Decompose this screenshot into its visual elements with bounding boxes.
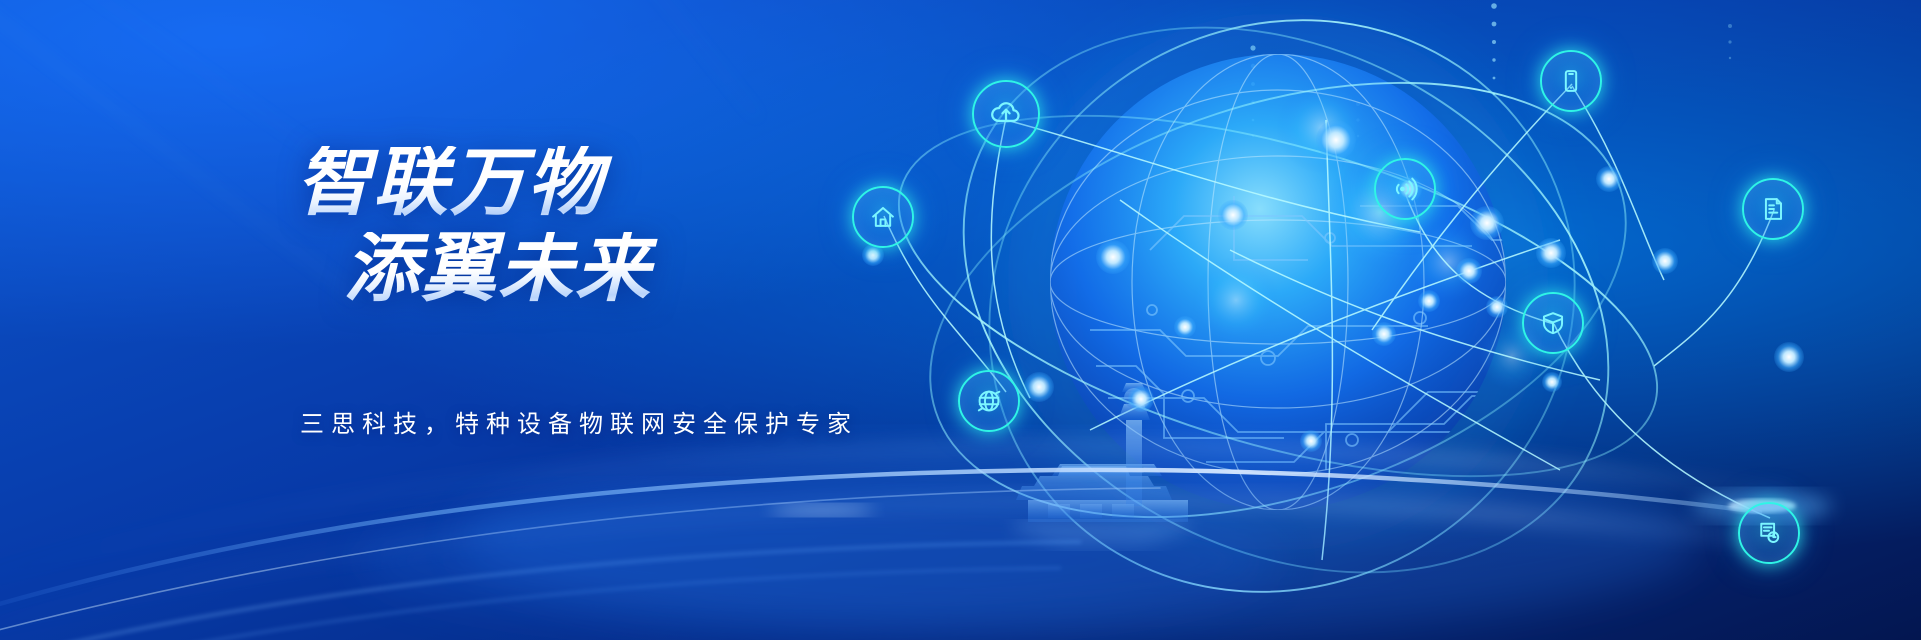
spark-node bbox=[1096, 240, 1130, 274]
spark-node bbox=[1470, 206, 1504, 240]
background-graphics bbox=[0, 0, 1921, 640]
spark-node bbox=[1542, 372, 1562, 392]
headline-block: 智联万物 添翼未来 bbox=[296, 146, 916, 305]
smartphone-icon[interactable] bbox=[1540, 50, 1602, 112]
spark-node bbox=[1316, 120, 1356, 160]
globe-network-icon[interactable] bbox=[958, 370, 1020, 432]
document-list-icon[interactable] bbox=[1742, 178, 1804, 240]
spark-node bbox=[1652, 248, 1678, 274]
report-refresh-icon[interactable] bbox=[1738, 502, 1800, 564]
headline-line-2: 添翼未来 bbox=[296, 232, 916, 306]
spark-node bbox=[1300, 430, 1322, 452]
spark-node bbox=[1536, 238, 1566, 268]
wifi-signal-icon[interactable] bbox=[1374, 158, 1436, 220]
water-reflection bbox=[1016, 522, 1188, 548]
circuit-traces bbox=[1090, 196, 1576, 470]
wifi-signal-glyph bbox=[1389, 173, 1421, 205]
globe-hotspots bbox=[1192, 82, 1546, 390]
globe-network-glyph bbox=[973, 385, 1005, 417]
city-skyline-silhouette bbox=[1016, 383, 1188, 522]
spark-node bbox=[1372, 322, 1396, 346]
globe-meridians bbox=[1050, 54, 1506, 510]
network-links bbox=[884, 84, 1774, 560]
smartphone-glyph bbox=[1555, 65, 1587, 97]
dotted-rain bbox=[1250, 3, 1732, 137]
shield-glyph bbox=[1537, 307, 1569, 339]
spark-node bbox=[1596, 166, 1622, 192]
spark-node bbox=[1418, 290, 1440, 312]
banner-subtitle: 三思科技，特种设备物联网安全保护专家 bbox=[300, 404, 858, 439]
document-list-glyph bbox=[1757, 193, 1789, 225]
spark-node bbox=[1174, 316, 1196, 338]
cloud-upload-glyph bbox=[988, 96, 1024, 132]
shield-icon[interactable] bbox=[1522, 292, 1584, 354]
headline-line-1: 智联万物 bbox=[296, 146, 916, 220]
cloud-upload-icon[interactable] bbox=[972, 80, 1040, 148]
spark-node bbox=[1024, 372, 1054, 402]
report-refresh-glyph bbox=[1753, 517, 1785, 549]
light-trails bbox=[0, 444, 1832, 640]
spark-node bbox=[1128, 386, 1154, 412]
spark-node bbox=[1774, 342, 1804, 372]
spark-node bbox=[1486, 296, 1508, 318]
globe-halo bbox=[978, 0, 1578, 582]
digital-globe bbox=[1050, 54, 1576, 510]
spark-node bbox=[1218, 200, 1248, 230]
spark-node bbox=[1456, 258, 1482, 284]
hero-banner: 智联万物 添翼未来 三思科技，特种设备物联网安全保护专家 bbox=[0, 0, 1921, 640]
